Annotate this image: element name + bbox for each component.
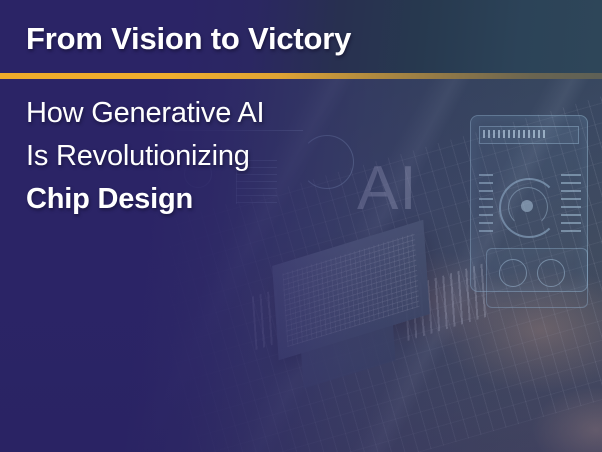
subtitle-line-2: Is Revolutionizing [26,135,446,178]
subtitle-line-1: How Generative AI [26,92,446,135]
page-title: From Vision to Victory [26,21,351,57]
gold-divider [0,73,602,79]
poster-canvas: AI From Vision to Victory How Generative… [0,0,602,452]
page-subtitle: How Generative AI Is Revolutionizing Chi… [26,92,446,221]
subtitle-line-3: Chip Design [26,178,446,221]
